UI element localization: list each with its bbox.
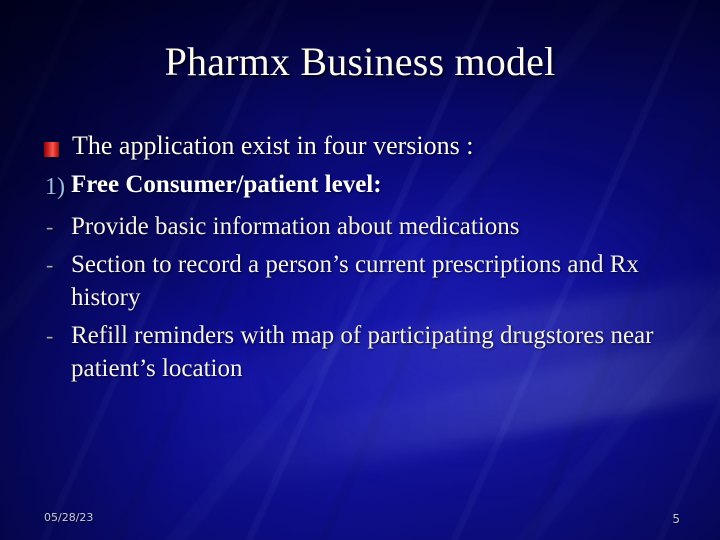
- footer-date: 05/28/23: [44, 511, 93, 524]
- bullet-item-level3: - Provide basic information about medica…: [44, 210, 684, 244]
- bullet-item-level3: - Refill reminders with map of participa…: [44, 319, 684, 386]
- bullet-text: Free Consumer/patient level:: [71, 170, 382, 200]
- list-number-marker: 1): [45, 173, 69, 202]
- presentation-slide: Pharmx Business model The application ex…: [0, 0, 720, 540]
- slide-content: Pharmx Business model The application ex…: [0, 0, 720, 540]
- slide-title: Pharmx Business model: [0, 40, 720, 84]
- bullet-item-level2-numbered: 1) Free Consumer/patient level:: [44, 170, 684, 202]
- dash-bullet-icon: -: [46, 214, 71, 240]
- bullet-text: The application exist in four versions :: [72, 131, 473, 162]
- bullet-item-level3: - Section to record a person’s current p…: [44, 248, 684, 315]
- footer-page-number: 5: [672, 512, 680, 526]
- slide-body-list: The application exist in four versions :…: [44, 131, 684, 390]
- bullet-text: Section to record a person’s current pre…: [71, 248, 684, 315]
- bullet-text: Provide basic information about medicati…: [71, 210, 520, 244]
- dash-bullet-icon: -: [46, 252, 71, 278]
- bullet-text: Refill reminders with map of participati…: [71, 319, 684, 386]
- dash-bullet-icon: -: [46, 323, 71, 349]
- square-bullet-icon: [44, 142, 59, 157]
- bullet-item-level1: The application exist in four versions :: [44, 131, 684, 162]
